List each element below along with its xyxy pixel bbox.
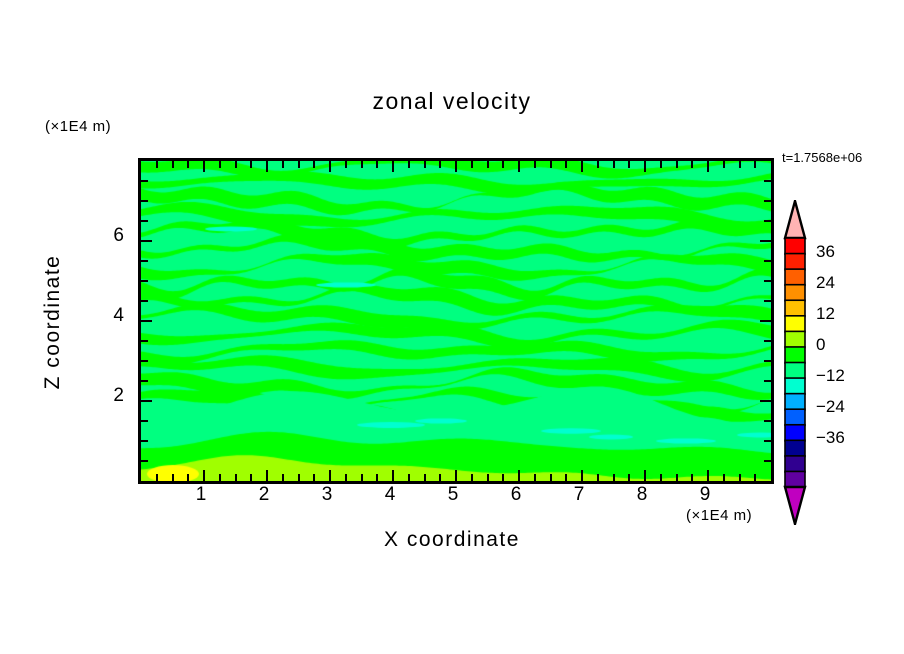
axis-tick xyxy=(313,474,315,481)
x-axis-tick-label: 8 xyxy=(622,484,662,506)
axis-tick xyxy=(235,474,237,481)
axis-tick xyxy=(203,470,205,481)
axis-tick xyxy=(298,161,300,168)
axis-tick xyxy=(282,161,284,168)
axis-tick xyxy=(172,161,174,168)
axis-tick xyxy=(723,161,725,168)
contour-plot-area xyxy=(138,158,774,484)
axis-tick xyxy=(345,161,347,168)
axis-tick xyxy=(141,180,148,182)
colorbar-tick-label: 12 xyxy=(816,304,835,324)
axis-tick xyxy=(235,161,237,168)
x-axis-tick-label: 5 xyxy=(433,484,473,506)
axis-tick xyxy=(764,440,771,442)
x-axis-tick-label: 2 xyxy=(244,484,284,506)
colorbar-band xyxy=(785,316,805,332)
axis-tick xyxy=(760,400,771,402)
colorbar-over-arrow xyxy=(785,201,805,238)
colorbar-band xyxy=(785,238,805,254)
axis-tick xyxy=(754,161,756,168)
colorbar-tick-label: −36 xyxy=(816,428,845,448)
axis-tick xyxy=(187,474,189,481)
axis-tick xyxy=(329,470,331,481)
colorbar-tick-label: 36 xyxy=(816,242,835,262)
axis-tick xyxy=(581,161,583,172)
axis-tick xyxy=(754,474,756,481)
axis-tick xyxy=(691,161,693,168)
axis-tick xyxy=(156,474,158,481)
colorbar-band xyxy=(785,471,805,487)
axis-tick xyxy=(581,470,583,481)
axis-tick xyxy=(392,470,394,481)
axis-tick xyxy=(250,161,252,168)
axis-tick xyxy=(764,460,771,462)
axis-tick xyxy=(141,280,148,282)
axis-tick xyxy=(471,474,473,481)
axis-tick xyxy=(764,420,771,422)
x-axis-title: X coordinate xyxy=(0,528,904,552)
axis-tick xyxy=(764,280,771,282)
x-axis-tick-label: 7 xyxy=(559,484,599,506)
axis-tick xyxy=(518,470,520,481)
colorbar xyxy=(780,200,810,525)
axis-tick xyxy=(565,474,567,481)
axis-tick xyxy=(628,474,630,481)
colorbar-band xyxy=(785,409,805,425)
axis-tick xyxy=(141,440,148,442)
axis-tick xyxy=(141,240,152,242)
colorbar-svg xyxy=(780,200,810,525)
axis-tick xyxy=(707,161,709,172)
x-axis-tick-label: 3 xyxy=(307,484,347,506)
axis-tick xyxy=(141,300,148,302)
axis-tick xyxy=(534,161,536,168)
axis-tick xyxy=(550,474,552,481)
axis-tick xyxy=(597,474,599,481)
colorbar-band xyxy=(785,300,805,316)
y-axis-tick-label: 4 xyxy=(94,305,124,327)
axis-tick xyxy=(141,460,148,462)
colorbar-band xyxy=(785,440,805,456)
axis-tick xyxy=(141,360,148,362)
x-axis-unit-label: (×1E4 m) xyxy=(686,507,752,524)
colorbar-tick-label: −24 xyxy=(816,397,845,417)
axis-tick xyxy=(141,340,148,342)
axis-tick xyxy=(376,161,378,168)
axis-tick xyxy=(660,161,662,168)
axis-tick xyxy=(764,220,771,222)
axis-tick xyxy=(764,340,771,342)
axis-tick xyxy=(156,161,158,168)
axis-tick xyxy=(439,474,441,481)
axis-tick xyxy=(141,420,148,422)
axis-tick xyxy=(313,161,315,168)
colorbar-band xyxy=(785,363,805,379)
axis-tick xyxy=(141,320,152,322)
axis-tick xyxy=(392,161,394,172)
colorbar-band xyxy=(785,269,805,285)
axis-tick xyxy=(141,400,152,402)
colorbar-band xyxy=(785,254,805,270)
time-annotation: t=1.7568e+06 xyxy=(782,150,862,165)
x-axis-tick-label: 4 xyxy=(370,484,410,506)
axis-tick xyxy=(250,474,252,481)
axis-tick xyxy=(266,161,268,172)
axis-tick xyxy=(764,380,771,382)
colorbar-band xyxy=(785,285,805,301)
axis-tick xyxy=(764,260,771,262)
axis-tick xyxy=(502,474,504,481)
axis-tick xyxy=(376,474,378,481)
axis-tick xyxy=(361,161,363,168)
colorbar-band xyxy=(785,378,805,394)
colorbar-tick-label: 24 xyxy=(816,273,835,293)
colorbar-under-arrow xyxy=(785,487,805,524)
axis-tick xyxy=(487,161,489,168)
colorbar-tick-label: 0 xyxy=(816,335,825,355)
colorbar-band xyxy=(785,425,805,441)
axis-tick xyxy=(739,161,741,168)
axis-tick xyxy=(298,474,300,481)
axis-tick xyxy=(597,161,599,168)
x-axis-tick-label: 1 xyxy=(181,484,221,506)
axis-tick xyxy=(764,360,771,362)
axis-tick xyxy=(676,474,678,481)
axis-tick xyxy=(518,161,520,172)
axis-tick xyxy=(676,161,678,168)
axis-tick xyxy=(764,300,771,302)
axis-tick xyxy=(487,474,489,481)
axis-tick xyxy=(628,161,630,168)
axis-tick xyxy=(219,474,221,481)
axis-tick xyxy=(550,161,552,168)
axis-tick xyxy=(760,240,771,242)
axis-tick xyxy=(329,161,331,172)
axis-tick xyxy=(345,474,347,481)
axis-tick xyxy=(439,161,441,168)
axis-tick xyxy=(739,474,741,481)
axis-tick xyxy=(266,470,268,481)
colorbar-tick-label: −12 xyxy=(816,366,845,386)
axis-tick xyxy=(644,161,646,172)
axis-tick xyxy=(723,474,725,481)
colorbar-band xyxy=(785,347,805,363)
axis-tick xyxy=(219,161,221,168)
axis-tick xyxy=(613,161,615,168)
axis-tick xyxy=(565,161,567,168)
axis-tick xyxy=(141,220,148,222)
axis-tick xyxy=(455,161,457,172)
axis-tick xyxy=(424,474,426,481)
axis-tick xyxy=(707,470,709,481)
y-axis-unit-label: (×1E4 m) xyxy=(45,118,111,135)
axis-tick xyxy=(764,180,771,182)
y-axis-tick-label: 2 xyxy=(94,385,124,407)
axis-tick xyxy=(408,474,410,481)
axis-tick xyxy=(361,474,363,481)
colorbar-band xyxy=(785,456,805,472)
axis-tick xyxy=(141,200,148,202)
x-axis-tick-label: 9 xyxy=(685,484,725,506)
y-axis-title: Z coordinate xyxy=(41,222,65,422)
axis-tick xyxy=(141,260,148,262)
contour-field xyxy=(141,161,771,481)
colorbar-band xyxy=(785,394,805,410)
axis-tick xyxy=(644,470,646,481)
axis-tick xyxy=(203,161,205,172)
axis-tick xyxy=(408,161,410,168)
axis-tick xyxy=(760,320,771,322)
axis-tick xyxy=(471,161,473,168)
axis-tick xyxy=(455,470,457,481)
axis-tick xyxy=(764,200,771,202)
axis-tick xyxy=(141,380,148,382)
axis-tick xyxy=(282,474,284,481)
axis-tick xyxy=(691,474,693,481)
colorbar-band xyxy=(785,331,805,347)
axis-tick xyxy=(613,474,615,481)
axis-tick xyxy=(502,161,504,168)
axis-tick xyxy=(534,474,536,481)
axis-tick xyxy=(424,161,426,168)
page-title: zonal velocity xyxy=(0,88,904,115)
x-axis-tick-label: 6 xyxy=(496,484,536,506)
axis-tick xyxy=(660,474,662,481)
axis-tick xyxy=(187,161,189,168)
axis-tick xyxy=(172,474,174,481)
y-axis-tick-label: 6 xyxy=(94,225,124,247)
